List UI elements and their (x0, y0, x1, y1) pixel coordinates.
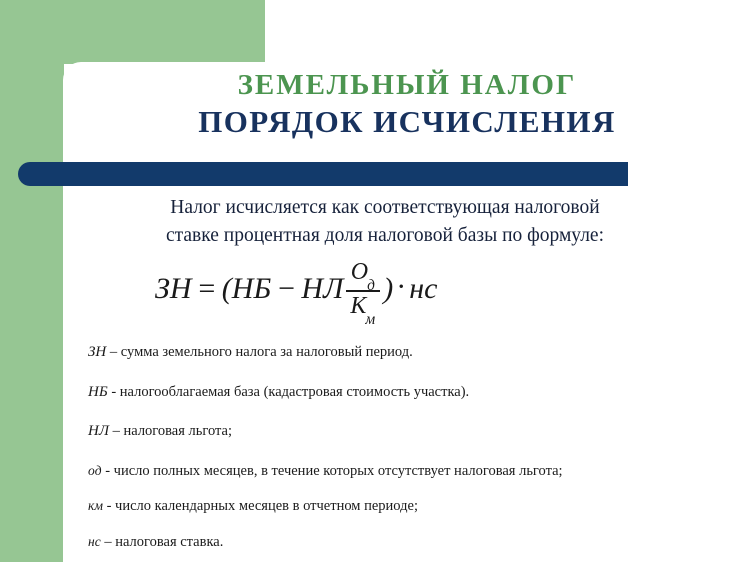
formula-legend: ЗН – сумма земельного налога за налоговы… (88, 345, 728, 562)
legend-symbol: o (88, 463, 95, 478)
legend-item: НБ - налогооблагаемая база (кадастровая … (88, 385, 728, 404)
formula-denominator-subscript: м (365, 311, 375, 328)
legend-symbol: НБ (88, 384, 108, 400)
intro-paragraph: Налог исчисляется как соответствующая на… (80, 194, 690, 249)
formula-open-paren: ( (222, 272, 232, 306)
formula-rate-term: нс (409, 272, 437, 306)
formula-minus-sign: − (276, 272, 296, 306)
legend-item: НЛ – налоговая льгота; (88, 424, 728, 443)
legend-description: – налоговая ставка. (101, 534, 224, 550)
legend-symbol-subscript: м (94, 498, 103, 513)
title-line-primary: ЗЕМЕЛЬНЫЙ НАЛОГ (64, 68, 750, 102)
formula-term-nb: НБ (232, 272, 271, 306)
formula-fraction-numerator: Oд (347, 260, 380, 288)
legend-symbol: нс (88, 534, 101, 549)
legend-description: - число полных месяцев, в течение которы… (102, 463, 563, 479)
legend-symbol: ЗН (88, 344, 106, 360)
formula-equals-sign: = (197, 272, 217, 306)
legend-description: - число календарных месяцев в отчетном п… (103, 498, 418, 514)
formula-term-nl: НЛ (301, 272, 343, 306)
formula-numerator-subscript: д (367, 277, 375, 294)
formula-fraction-bar (346, 290, 380, 292)
blue-divider-bar (18, 162, 628, 186)
formula-fraction: Oд Kм (346, 260, 380, 322)
legend-description: – налоговая льгота; (109, 423, 232, 439)
legend-description: - налогооблагаемая база (кадастровая сто… (108, 384, 469, 400)
formula-left-term: ЗН (155, 272, 192, 306)
formula-fraction-denominator: Kм (346, 294, 380, 322)
legend-item: нс – налоговая ставка. (88, 535, 728, 550)
legend-item: ЗН – сумма земельного налога за налоговы… (88, 345, 728, 364)
intro-line-2: ставке процентная доля налоговой базы по… (166, 225, 604, 246)
legend-item: км - число календарных месяцев в отчетно… (88, 499, 728, 514)
legend-symbol: НЛ (88, 423, 109, 439)
legend-description: – сумма земельного налога за налоговый п… (106, 344, 412, 360)
green-side-strip-decoration (0, 0, 64, 562)
intro-line-1: Налог исчисляется как соответствующая на… (170, 197, 599, 218)
slide-canvas: ЗЕМЕЛЬНЫЙ НАЛОГ ПОРЯДОК ИСЧИСЛЕНИЯ Налог… (0, 0, 750, 562)
legend-symbol-subscript: д (95, 463, 102, 478)
slide-title: ЗЕМЕЛЬНЫЙ НАЛОГ ПОРЯДОК ИСЧИСЛЕНИЯ (64, 68, 750, 141)
formula-multiply-sign: · (396, 270, 406, 304)
legend-item: oд - число полных месяцев, в течение кот… (88, 464, 728, 479)
title-line-secondary: ПОРЯДОК ИСЧИСЛЕНИЯ (64, 104, 750, 141)
formula-close-paren: ) (383, 272, 393, 306)
tax-formula: ЗН = ( НБ − НЛ Oд Kм ) · нс (155, 258, 437, 320)
